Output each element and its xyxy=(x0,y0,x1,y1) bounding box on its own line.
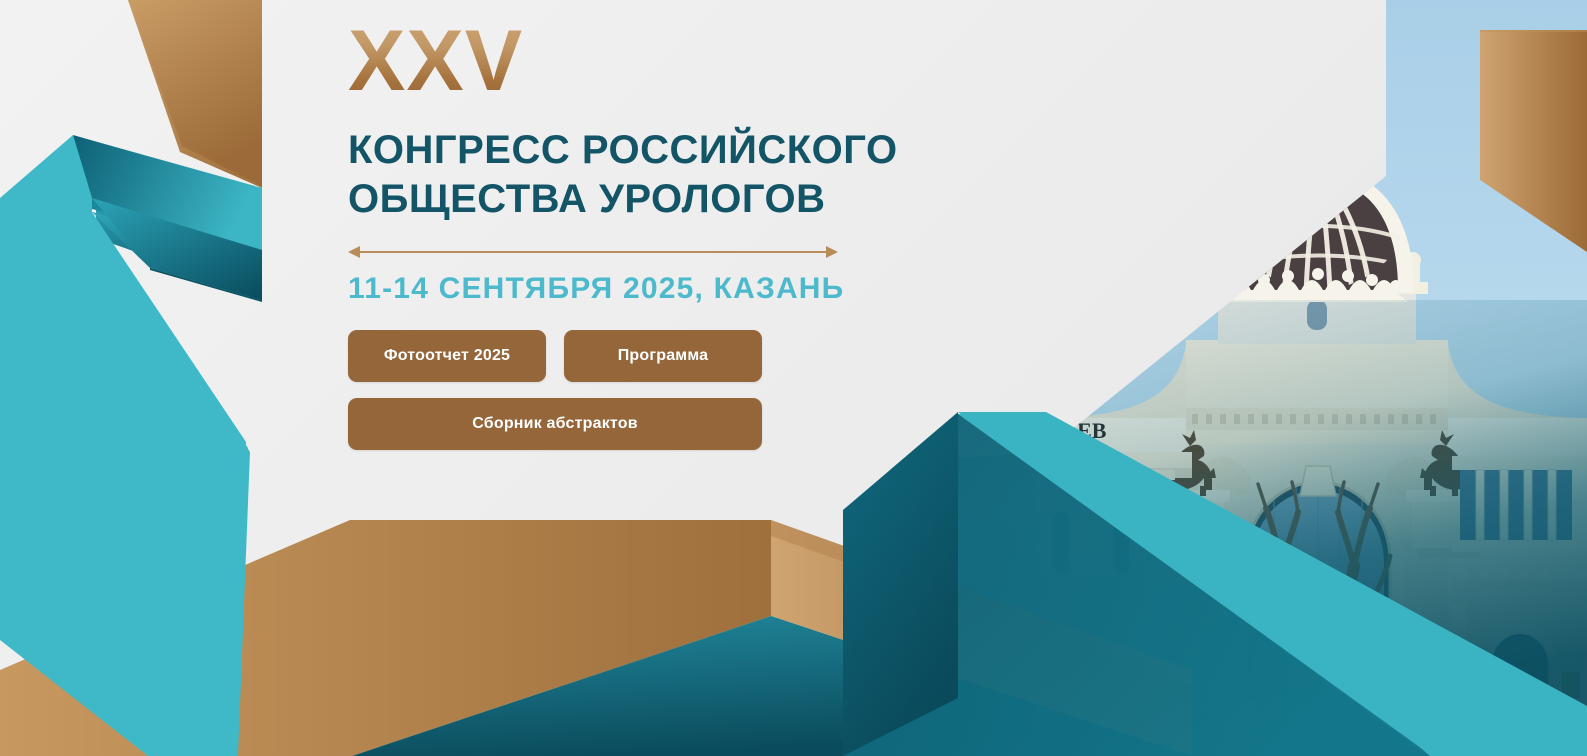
congress-title-line-1: КОНГРЕСС РОССИЙСКОГО xyxy=(348,126,1048,175)
congress-date-location: 11-14 СЕНТЯБРЯ 2025, КАЗАНЬ xyxy=(348,272,1048,306)
congress-title-line-2: ОБЩЕСТВА УРОЛОГОВ xyxy=(348,175,1048,224)
building-sign-text: ЦЕВ xyxy=(1060,418,1107,443)
divider-arrow-right-icon xyxy=(826,246,838,258)
hero-content: XXV КОНГРЕСС РОССИЙСКОГО ОБЩЕСТВА УРОЛОГ… xyxy=(348,18,1048,466)
divider-bar xyxy=(358,251,828,253)
congress-roman-numeral: XXV xyxy=(348,18,523,104)
program-button[interactable]: Программа xyxy=(564,330,762,382)
abstracts-collection-button[interactable]: Сборник абстрактов xyxy=(348,398,762,450)
primary-button-row: Фотоотчет 2025 Программа xyxy=(348,330,1048,382)
decorative-divider xyxy=(348,246,838,258)
photo-report-button[interactable]: Фотоотчет 2025 xyxy=(348,330,546,382)
congress-hero-banner: ЦЕВ xyxy=(0,0,1587,756)
secondary-button-row: Сборник абстрактов xyxy=(348,398,1048,450)
